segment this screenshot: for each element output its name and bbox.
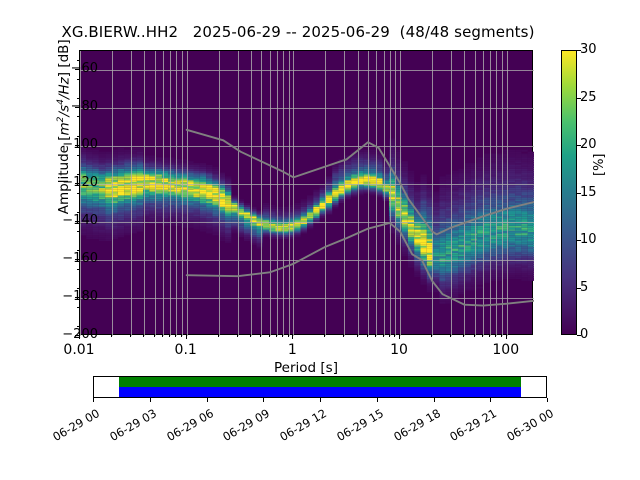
x-minor-tick [111,335,112,337]
x-minor-tick [260,335,261,337]
x-tick-mark [292,335,293,339]
y-minor-tick [77,193,79,194]
timeline-tick-label: 06-29 12 [270,406,329,448]
colorbar-tick-label: 5 [580,281,588,294]
x-minor-tick [463,335,464,337]
timeline-tick-label: 06-29 18 [384,406,443,448]
x-tick-mark [506,335,507,339]
y-minor-tick [77,212,79,213]
x-axis-label: Period [s] [79,360,533,376]
x-minor-tick [431,335,432,337]
y-tick-mark [75,69,79,70]
x-minor-tick [154,335,155,337]
timeline-tick-label: 06-29 15 [327,406,386,448]
y-tick-mark [75,145,79,146]
colorbar-tick-mark [577,193,581,194]
y-minor-tick [77,136,79,137]
x-tick-label: 10 [369,343,429,357]
x-minor-tick [324,335,325,337]
x-tick-mark [79,335,80,339]
y-minor-tick [77,98,79,99]
colorbar-tick-mark [577,288,581,289]
y-minor-tick [77,60,79,61]
timeline-tick-mark [490,398,491,402]
y-minor-tick [77,269,79,270]
x-tick-mark [186,335,187,339]
x-minor-tick [343,335,344,337]
y-tick-label: −200 [38,328,98,341]
colorbar-tick-mark [577,145,581,146]
noise-model-curves [80,51,534,336]
x-minor-tick [282,335,283,337]
timeline-tick-mark [320,398,321,402]
colorbar-tick-mark [577,335,581,336]
data-coverage-bar [119,377,521,387]
x-minor-tick [130,335,131,337]
y-minor-tick [77,231,79,232]
y-tick-label: −100 [38,138,98,151]
timeline-tick-label: 06-29 03 [100,406,159,448]
y-tick-mark [75,259,79,260]
ppsd-figure: XG.BIERW..HH2 2025-06-29 -- 2025-06-29 (… [0,0,640,480]
x-minor-tick [181,335,182,337]
colorbar-tick-mark [577,98,581,99]
y-tick-mark [75,107,79,108]
timeline-tick-label: 06-29 06 [157,406,216,448]
x-tick-label: 0.1 [156,343,216,357]
x-minor-tick [357,335,358,337]
x-minor-tick [482,335,483,337]
y-minor-tick [77,116,79,117]
x-minor-tick [383,335,384,337]
x-minor-tick [237,335,238,337]
y-minor-tick [77,326,79,327]
x-tick-label: 100 [476,343,536,357]
y-minor-tick [77,288,79,289]
y-minor-tick [77,155,79,156]
x-minor-tick [169,335,170,337]
timeline-tick-label: 06-29 09 [213,406,272,448]
colorbar-tick-mark [577,50,581,51]
timeline-tick-mark [93,398,94,402]
colorbar-tick-mark [577,240,581,241]
x-minor-tick [367,335,368,337]
x-minor-tick [175,335,176,337]
x-minor-tick [288,335,289,337]
x-minor-tick [489,335,490,337]
x-minor-tick [218,335,219,337]
timeline-tick-mark [263,398,264,402]
y-tick-label: −140 [38,214,98,227]
colorbar-tick-label: 30 [580,43,597,56]
segments-used-bar [119,387,521,397]
x-minor-tick [501,335,502,337]
y-tick-label: −60 [38,62,98,75]
y-tick-mark [75,297,79,298]
y-tick-mark [75,183,79,184]
timeline-tick-label: 06-29 00 [43,406,102,448]
x-minor-tick [394,335,395,337]
x-minor-tick [276,335,277,337]
x-minor-tick [474,335,475,337]
colorbar-tick-label: 15 [580,186,597,199]
colorbar-tick-label: 10 [580,233,597,246]
colorbar-tick-label: 0 [580,328,588,341]
coverage-timeline[interactable] [93,376,547,398]
y-minor-tick [77,250,79,251]
y-tick-label: −80 [38,100,98,113]
timeline-tick-mark [150,398,151,402]
timeline-tick-mark [207,398,208,402]
timeline-tick-label: 06-29 21 [440,406,499,448]
colorbar-tick-label: 20 [580,138,597,151]
y-tick-label: −160 [38,252,98,265]
x-minor-tick [269,335,270,337]
colorbar-tick-label: 25 [580,91,597,104]
timeline-tick-label: 06-30 00 [497,406,556,448]
y-minor-tick [77,174,79,175]
timeline-tick-mark [434,398,435,402]
y-minor-tick [77,79,79,80]
x-minor-tick [495,335,496,337]
x-tick-label: 1 [262,343,322,357]
x-minor-tick [143,335,144,337]
x-tick-mark [399,335,400,339]
x-minor-tick [389,335,390,337]
timeline-tick-mark [547,398,548,402]
x-minor-tick [375,335,376,337]
y-minor-tick [77,307,79,308]
x-tick-label: 0.01 [49,343,109,357]
timeline-tick-mark [377,398,378,402]
figure-title: XG.BIERW..HH2 2025-06-29 -- 2025-06-29 (… [0,23,596,41]
x-minor-tick [450,335,451,337]
y-axis-label: Amplitude [m2/s4/Hz] [dB] [54,12,72,242]
y-tick-label: −180 [38,290,98,303]
y-tick-mark [75,221,79,222]
ppsd-axes[interactable] [79,50,533,335]
colorbar [561,50,577,335]
x-minor-tick [250,335,251,337]
y-tick-label: −120 [38,176,98,189]
x-minor-tick [162,335,163,337]
